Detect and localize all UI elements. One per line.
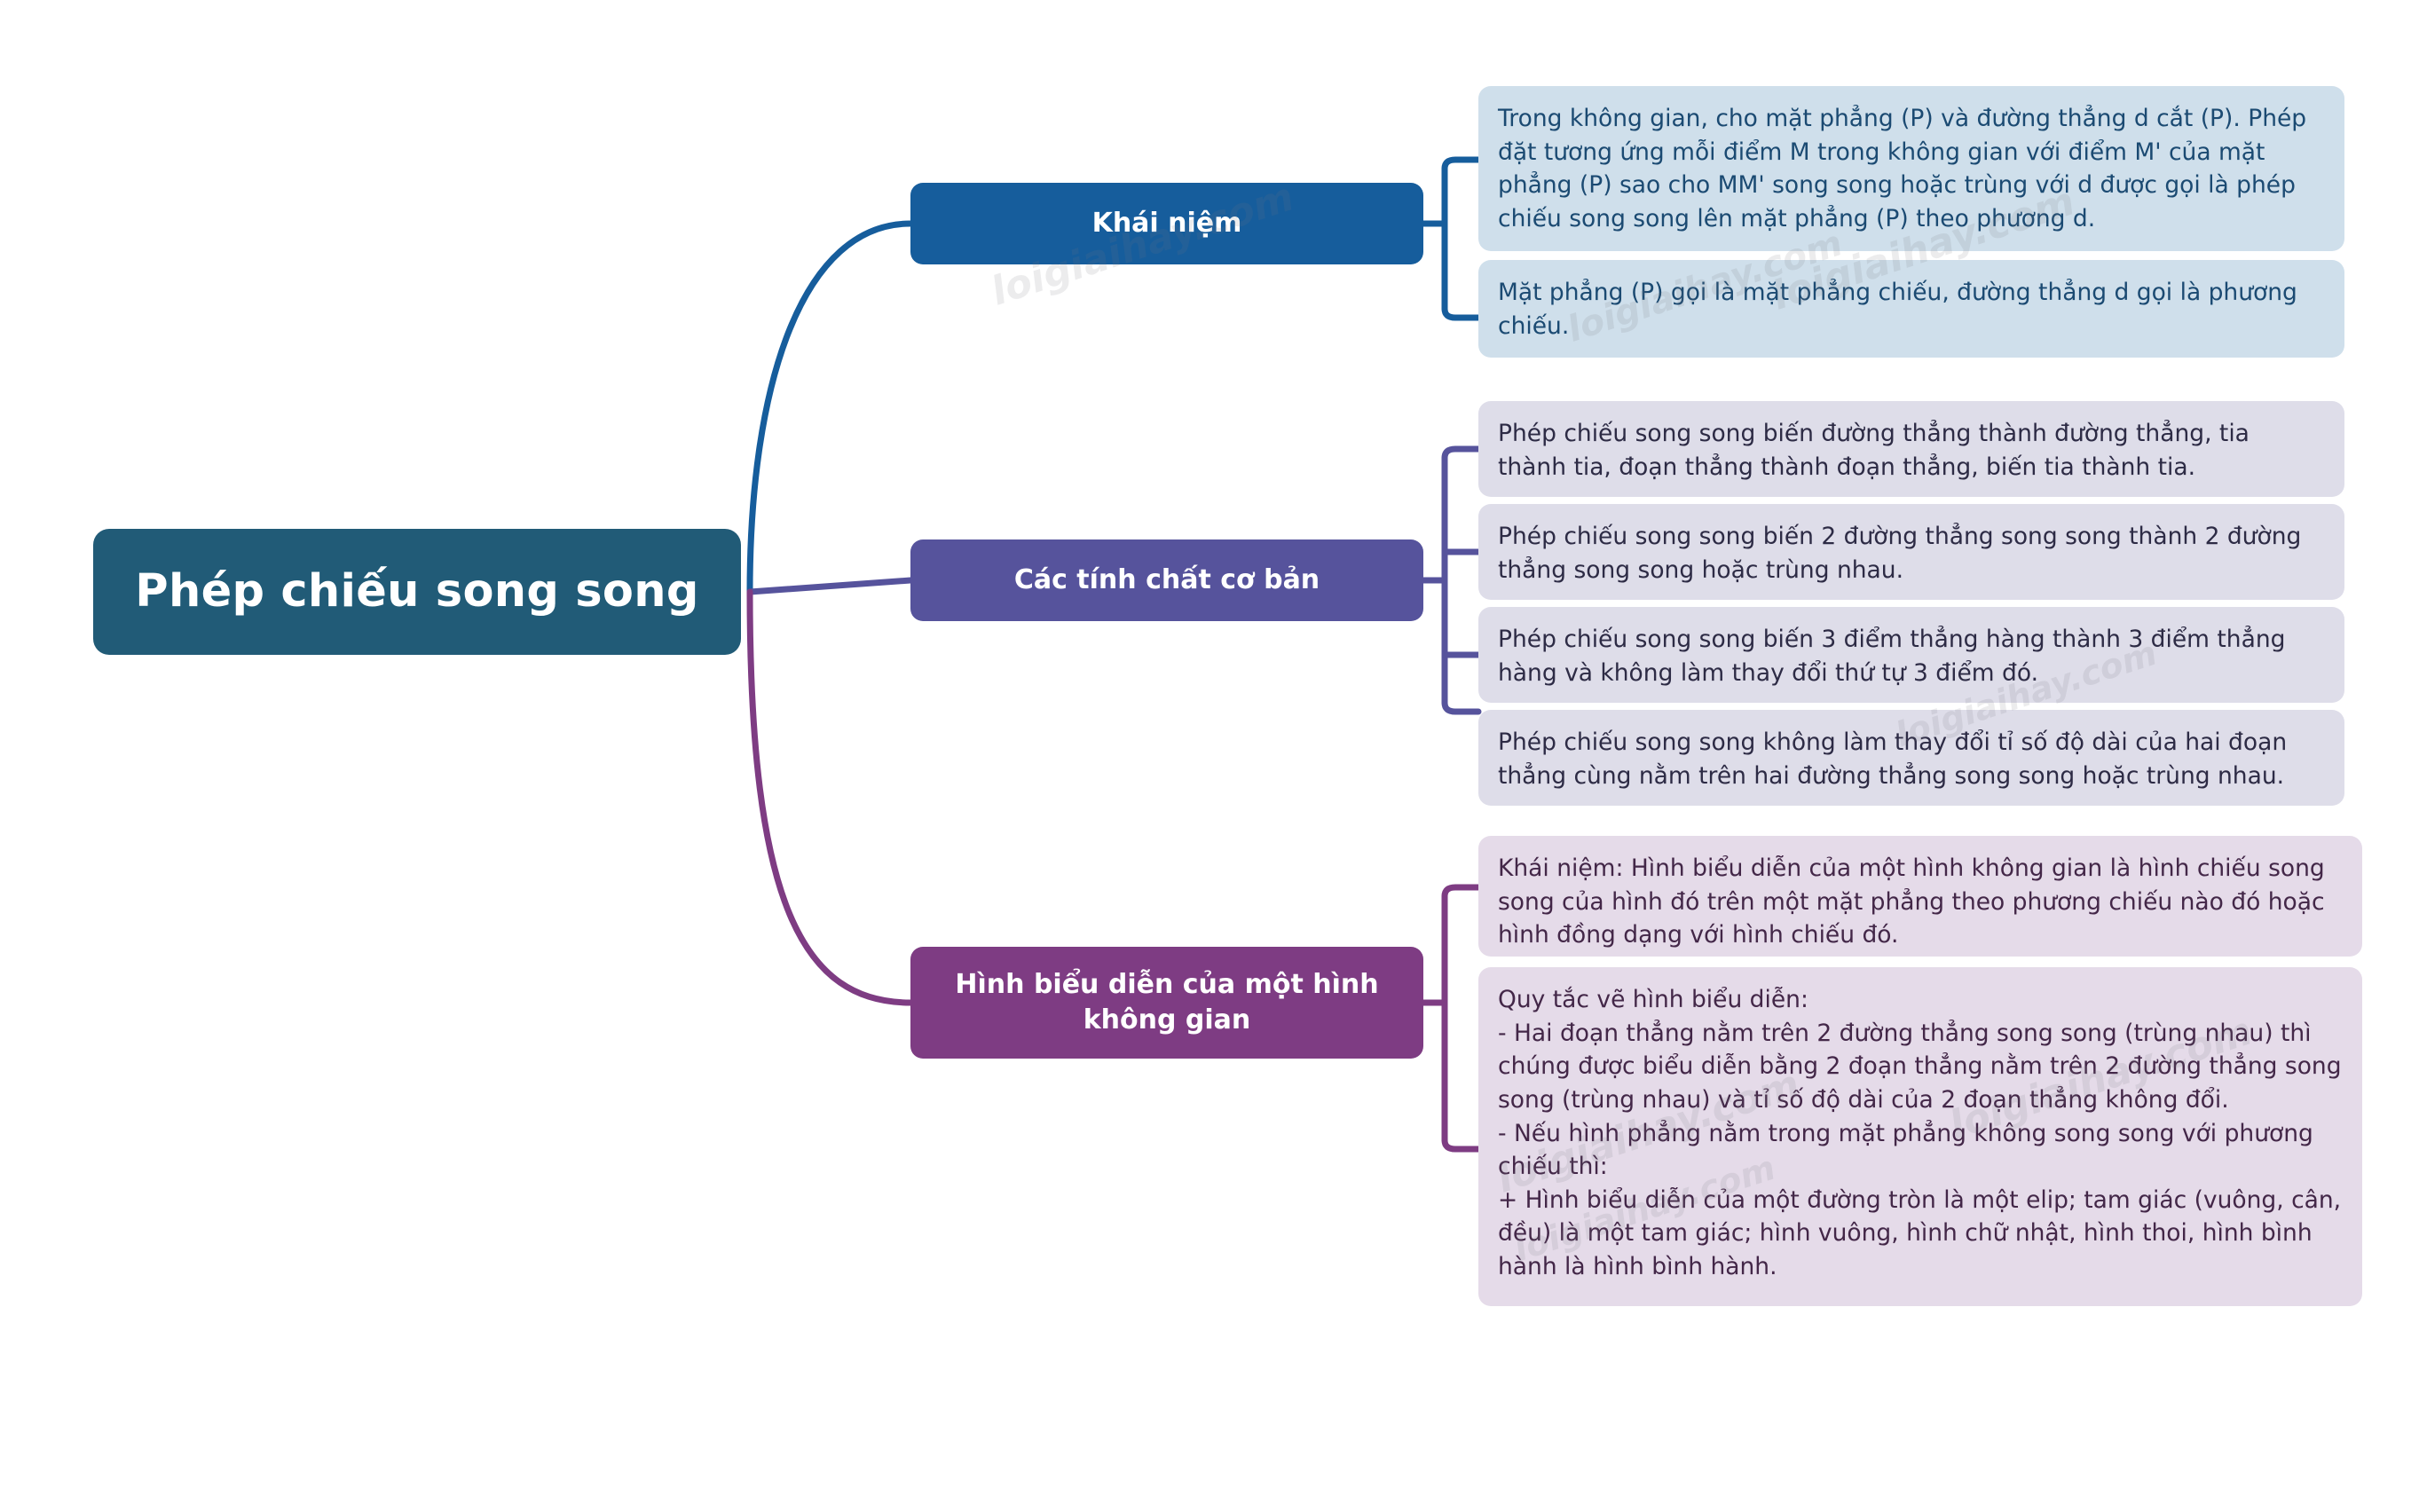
root-node-label: Phép chiếu song song bbox=[135, 566, 698, 618]
leaf-box-text: Quy tắc vẽ hình biểu diễn: - Hai đoạn th… bbox=[1498, 983, 2343, 1284]
leaf-box-text: Phép chiếu song song không làm thay đổi … bbox=[1498, 726, 2325, 792]
branch-node-label: Các tính chất cơ bản bbox=[1014, 563, 1320, 599]
leaf-box-text: Phép chiếu song song biến 3 điểm thẳng h… bbox=[1498, 623, 2325, 689]
leaf-box-text: Phép chiếu song song biến đường thẳng th… bbox=[1498, 417, 2325, 484]
branch-node-cac-tinh-chat-co-ban[interactable]: Các tính chất cơ bản bbox=[910, 539, 1423, 621]
leaf-box-text: Phép chiếu song song biến 2 đường thẳng … bbox=[1498, 520, 2325, 587]
mindmap-canvas: Phép chiếu song song Khái niệm Các tính … bbox=[0, 0, 2419, 1512]
leaf-box-text: Mặt phẳng (P) gọi là mặt phẳng chiếu, đư… bbox=[1498, 276, 2325, 343]
leaf-box[interactable]: Phép chiếu song song biến 2 đường thẳng … bbox=[1478, 504, 2344, 600]
root-node[interactable]: Phép chiếu song song bbox=[93, 529, 741, 655]
branch-node-hinh-bieu-dien-cua-mot-hinh-khong-gian[interactable]: Hình biểu diễn của một hình không gian bbox=[910, 947, 1423, 1059]
leaf-box[interactable]: Mặt phẳng (P) gọi là mặt phẳng chiếu, đư… bbox=[1478, 260, 2344, 358]
leaf-box[interactable]: Quy tắc vẽ hình biểu diễn: - Hai đoạn th… bbox=[1478, 967, 2362, 1306]
leaf-box[interactable]: Phép chiếu song song không làm thay đổi … bbox=[1478, 710, 2344, 806]
leaf-box[interactable]: Trong không gian, cho mặt phẳng (P) và đ… bbox=[1478, 86, 2344, 251]
leaf-box[interactable]: Phép chiếu song song biến 3 điểm thẳng h… bbox=[1478, 607, 2344, 703]
branch-node-label: Khái niệm bbox=[1092, 206, 1242, 242]
leaf-box-text: Khái niệm: Hình biểu diễn của một hình k… bbox=[1498, 852, 2343, 952]
leaf-box-text: Trong không gian, cho mặt phẳng (P) và đ… bbox=[1498, 102, 2325, 236]
leaf-box[interactable]: Phép chiếu song song biến đường thẳng th… bbox=[1478, 401, 2344, 497]
leaf-box[interactable]: Khái niệm: Hình biểu diễn của một hình k… bbox=[1478, 836, 2362, 957]
node-layer: Phép chiếu song song Khái niệm Các tính … bbox=[0, 0, 2419, 1512]
branch-node-khai-niem[interactable]: Khái niệm bbox=[910, 183, 1423, 264]
branch-node-label: Hình biểu diễn của một hình không gian bbox=[934, 967, 1400, 1039]
